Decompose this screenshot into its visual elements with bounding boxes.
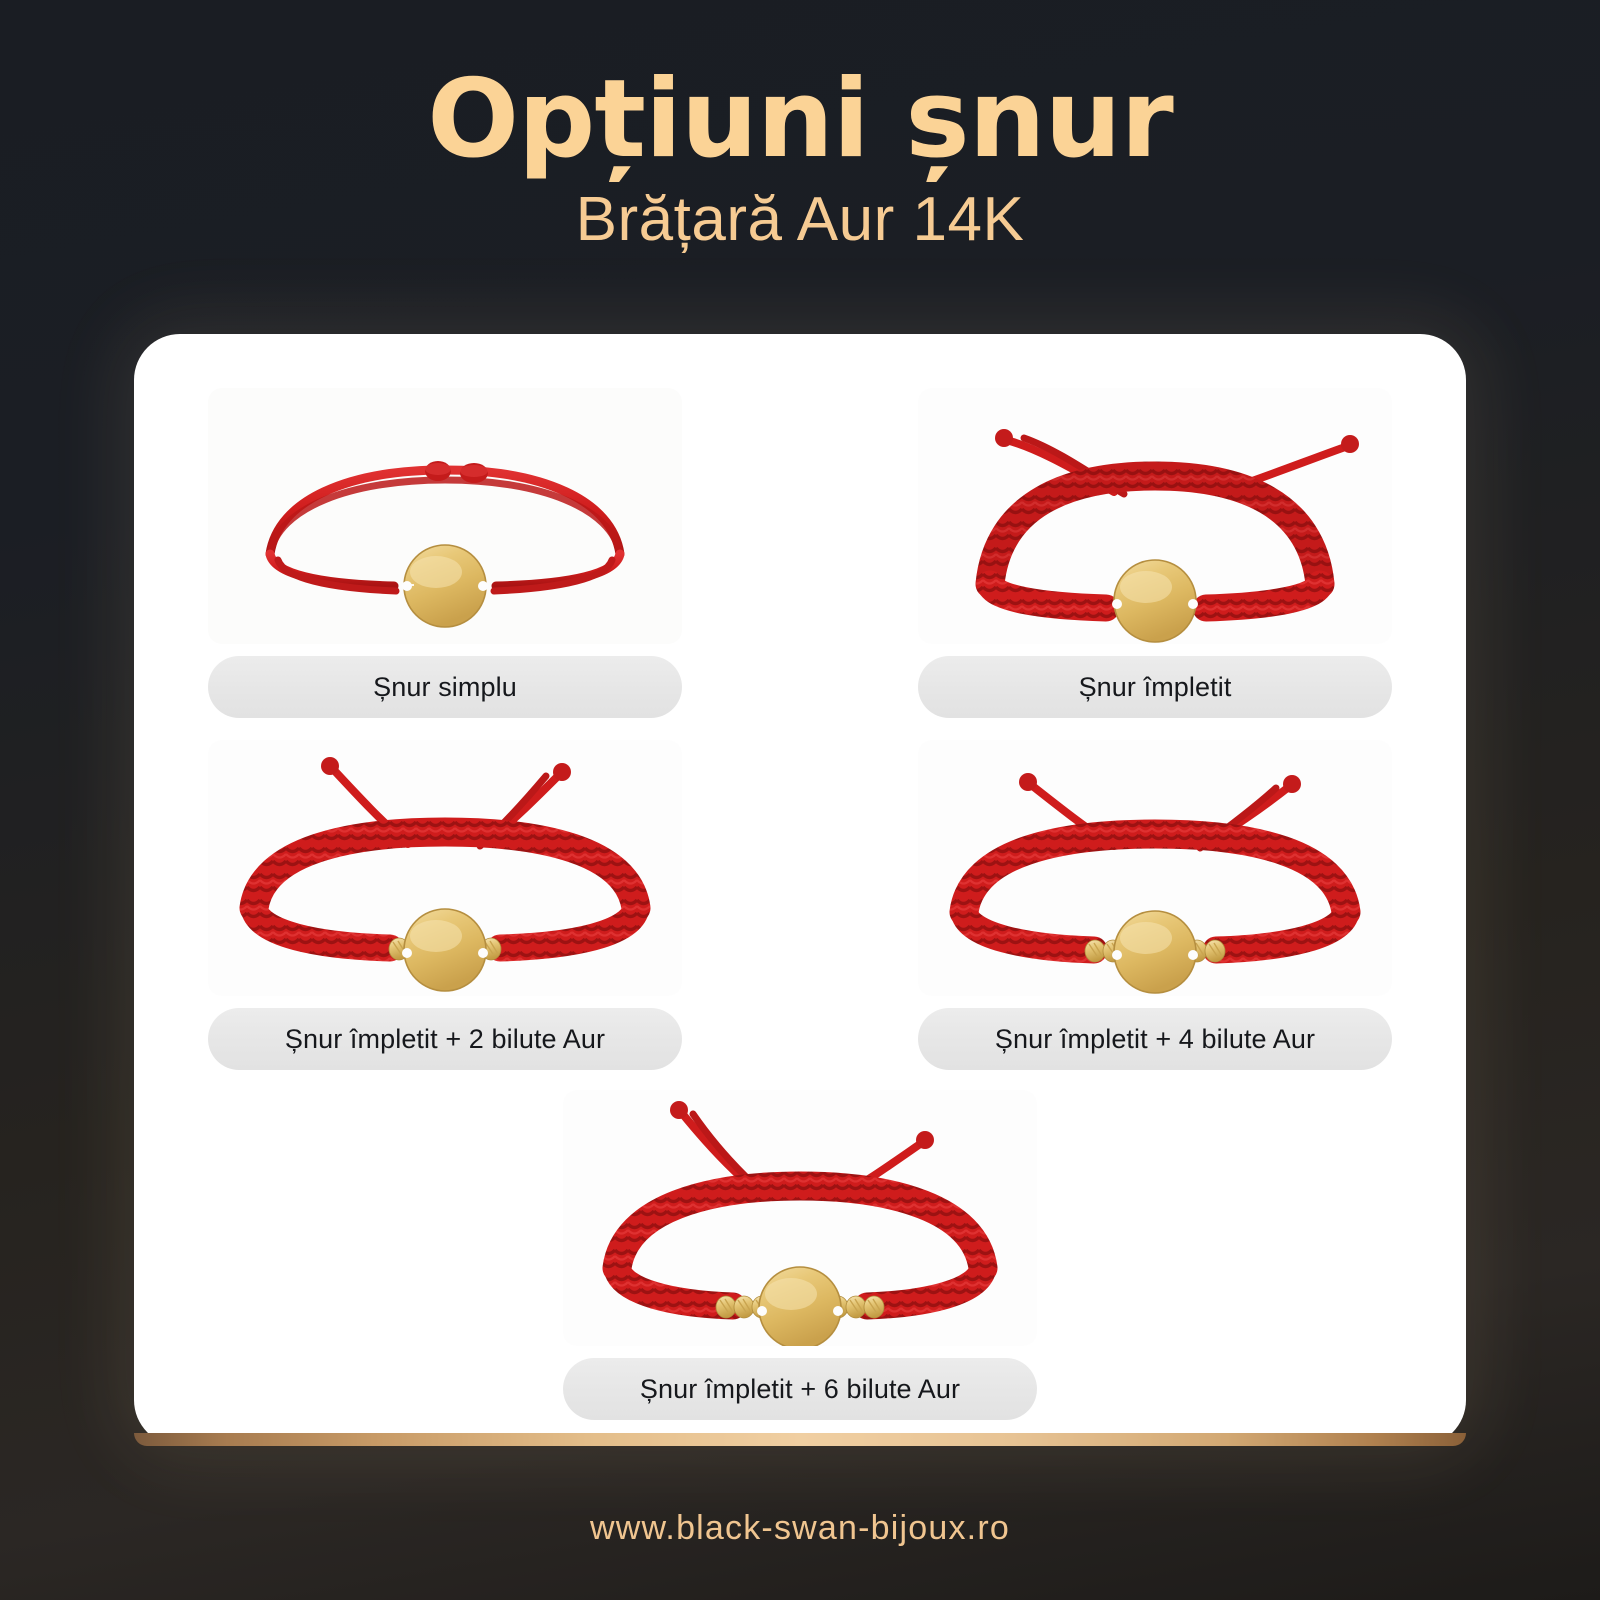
gold-disc-pendant	[402, 545, 488, 627]
page-subtitle: Brățară Aur 14K	[0, 185, 1600, 254]
bracelet-photo-braided-4-beads	[918, 740, 1392, 996]
options-row-1: Șnur simplu	[208, 388, 1392, 718]
option-label-text: Șnur împletit	[1079, 672, 1232, 703]
gold-disc-pendant	[1112, 911, 1198, 993]
option-label-text: Șnur împletit + 2 bilute Aur	[285, 1024, 605, 1055]
option-label-text: Șnur simplu	[373, 672, 517, 703]
footer-website-url[interactable]: www.black-swan-bijoux.ro	[0, 1509, 1600, 1548]
option-card-snur-impletit-6-bilute[interactable]: Șnur împletit + 6 bilute Aur	[563, 1090, 1037, 1420]
option-label-text: Șnur împletit + 4 bilute Aur	[995, 1024, 1315, 1055]
options-card: Șnur simplu	[134, 334, 1466, 1446]
option-label-pill: Șnur împletit + 4 bilute Aur	[918, 1008, 1392, 1070]
options-row-2: Șnur împletit + 2 bilute Aur	[208, 740, 1392, 1070]
bracelet-photo-braided-cord	[918, 388, 1392, 644]
option-label-pill: Șnur împletit	[918, 656, 1392, 718]
options-grid: Șnur simplu	[134, 334, 1466, 1446]
option-label-text: Șnur împletit + 6 bilute Aur	[640, 1374, 960, 1405]
options-row-3: Șnur împletit + 6 bilute Aur	[208, 1090, 1392, 1420]
page-background: Opțiuni șnur Brățară Aur 14K	[0, 0, 1600, 1600]
bracelet-photo-braided-2-beads	[208, 740, 682, 996]
gold-disc-pendant	[402, 909, 488, 991]
option-card-snur-simplu[interactable]: Șnur simplu	[208, 388, 682, 718]
option-label-pill: Șnur împletit + 6 bilute Aur	[563, 1358, 1037, 1420]
gold-disc-pendant	[757, 1267, 843, 1346]
page-title: Opțiuni șnur	[0, 62, 1600, 179]
gold-disc-pendant	[1112, 560, 1198, 642]
option-card-snur-impletit-2-bilute[interactable]: Șnur împletit + 2 bilute Aur	[208, 740, 682, 1070]
bracelet-photo-braided-6-beads	[563, 1090, 1037, 1346]
bracelet-photo-simple-cord	[208, 388, 682, 644]
option-label-pill: Șnur împletit + 2 bilute Aur	[208, 1008, 682, 1070]
option-card-snur-impletit-4-bilute[interactable]: Șnur împletit + 4 bilute Aur	[918, 740, 1392, 1070]
option-card-snur-impletit[interactable]: Șnur împletit	[918, 388, 1392, 718]
option-label-pill: Șnur simplu	[208, 656, 682, 718]
header: Opțiuni șnur Brățară Aur 14K	[0, 62, 1600, 254]
